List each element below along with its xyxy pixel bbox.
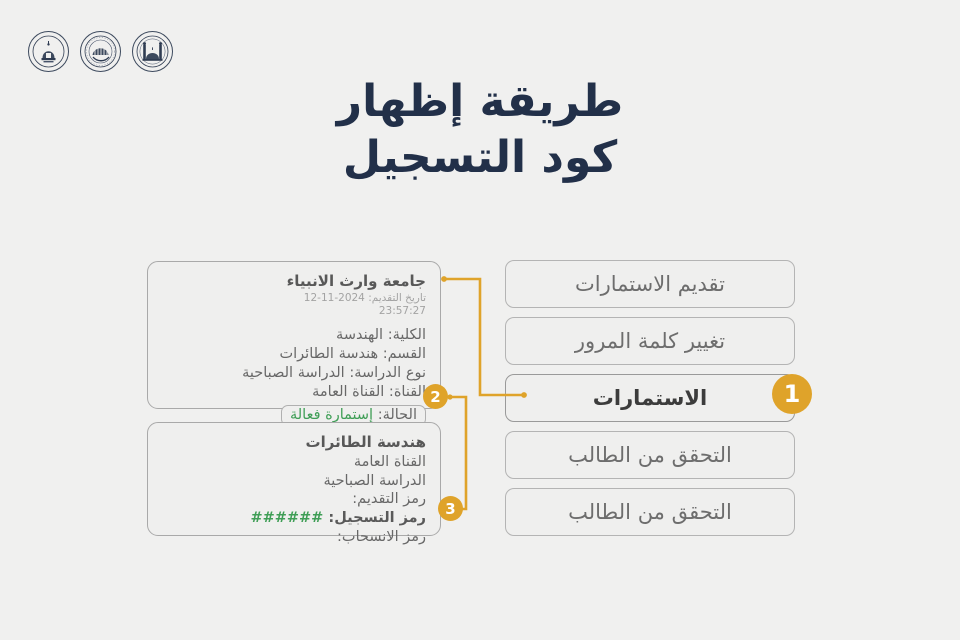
menu-item-label: التحقق من الطالب [568,500,732,524]
status-label: الحالة: [378,407,417,423]
application-info-card: جامعة وارث الانبياء تاريخ التقديم: 2024-… [147,261,441,409]
codes-info-card: هندسة الطائرات القناة العامة الدراسة الص… [147,422,441,536]
register-code-value: ###### [250,510,323,526]
menu-item-label: تغيير كلمة المرور [575,329,725,353]
logo-bar [28,31,173,72]
menu-item-applications[interactable]: الاستمارات [505,374,795,422]
submit-code-line: رمز التقديم: [162,490,426,509]
status-value: إستمارة فعالة [290,407,373,423]
step-badge-1: 1 [772,374,812,414]
university-name: جامعة وارث الانبياء [162,272,426,291]
college-line: الكلية: الهندسة [162,326,426,345]
ministry-seal-3-icon [132,31,173,72]
register-code-line: رمز التسجيل: ###### [162,509,426,528]
codes-channel: القناة العامة [162,453,426,472]
step-badge-2: 2 [423,384,448,409]
step-badge-3: 3 [438,496,463,521]
ministry-seal-2-icon [80,31,121,72]
menu-item-change-password[interactable]: تغيير كلمة المرور [505,317,795,365]
page-title: طريقة إظهار كود التسجيل [0,74,960,187]
submit-date: تاريخ التقديم: 2024-11-12 [162,292,426,305]
codes-study-type: الدراسة الصباحية [162,472,426,491]
study-type-line: نوع الدراسة: الدراسة الصباحية [162,364,426,383]
register-code-label: رمز التسجيل: [328,510,426,526]
menu-list: تقديم الاستمارات تغيير كلمة المرور الاست… [505,260,795,545]
menu-item-submit-applications[interactable]: تقديم الاستمارات [505,260,795,308]
menu-item-label: الاستمارات [593,386,707,410]
channel-line: القناة: القناة العامة [162,383,426,402]
withdraw-code-line: رمز الانسحاب: [162,528,426,547]
menu-item-label: التحقق من الطالب [568,443,732,467]
submit-time: 23:57:27 [162,305,426,318]
ministry-seal-1-icon [28,31,69,72]
menu-item-verify-student-2[interactable]: التحقق من الطالب [505,488,795,536]
menu-item-verify-student-1[interactable]: التحقق من الطالب [505,431,795,479]
page-title-line-2: كود التسجيل [0,130,960,186]
codes-department: هندسة الطائرات [162,433,426,452]
menu-item-label: تقديم الاستمارات [575,272,725,296]
page-title-line-1: طريقة إظهار [0,74,960,130]
department-line: القسم: هندسة الطائرات [162,345,426,364]
